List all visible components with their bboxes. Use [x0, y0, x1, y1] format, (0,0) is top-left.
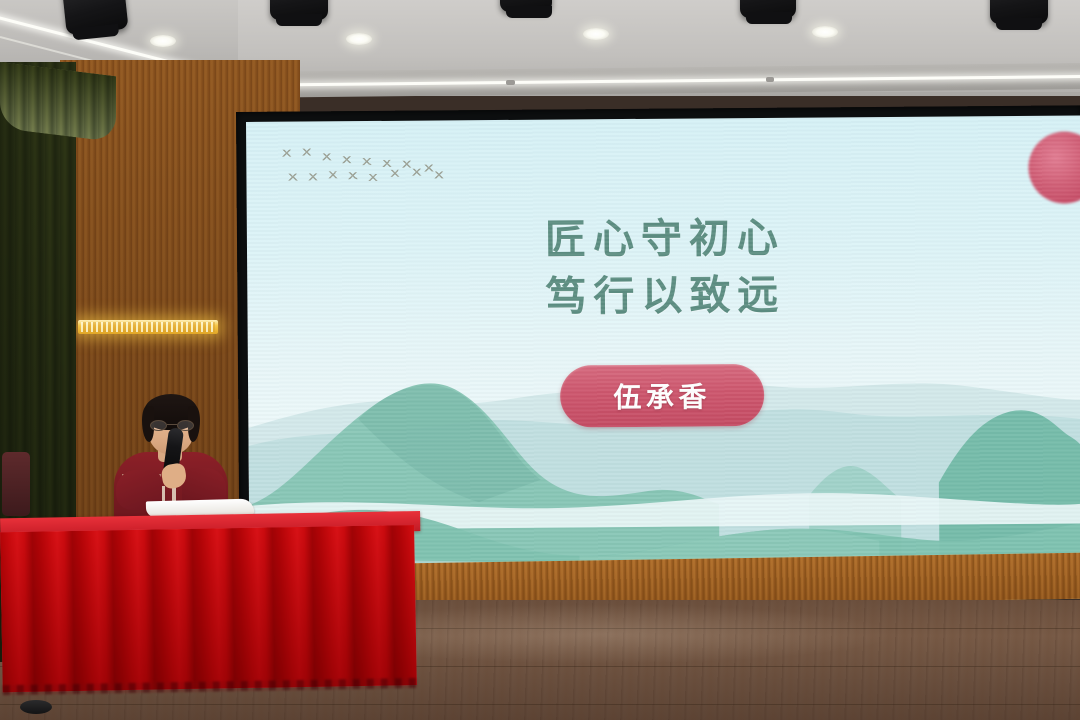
recessed-downlight-2	[346, 33, 372, 45]
stage-spotlight-5	[990, 0, 1048, 24]
recessed-downlight-4	[812, 26, 838, 38]
floor-cable-puck	[20, 700, 52, 714]
chair-back	[2, 452, 30, 516]
stage-spotlight-2	[270, 0, 328, 20]
led-screen[interactable]: 匠心守初心 笃行以致远 伍承香	[246, 115, 1080, 578]
flying-geese-flock	[276, 142, 506, 204]
slide-title-line-2: 笃行以致远	[247, 264, 1080, 327]
pleated-table-skirt	[0, 525, 417, 692]
amber-wall-light-strip	[78, 320, 218, 334]
stage-spotlight-3	[500, 0, 552, 12]
red-sun-icon	[1028, 131, 1080, 204]
smoke-detector-icon-2	[766, 77, 774, 82]
slide-title-line-1: 匠心守初心	[247, 207, 1080, 270]
recessed-downlight-3	[583, 28, 609, 40]
slide-title-block: 匠心守初心 笃行以致远	[247, 207, 1080, 327]
stage-spotlight-4	[740, 0, 796, 18]
recessed-downlight-1	[150, 35, 176, 47]
stage-spotlight-1	[61, 0, 128, 35]
smoke-detector-icon	[506, 80, 515, 85]
speaker-name-label: 伍承香	[613, 375, 711, 416]
speaker-name-badge: 伍承香	[560, 364, 764, 428]
conference-hall-scene: 匠心守初心 笃行以致远 伍承香	[0, 0, 1080, 720]
